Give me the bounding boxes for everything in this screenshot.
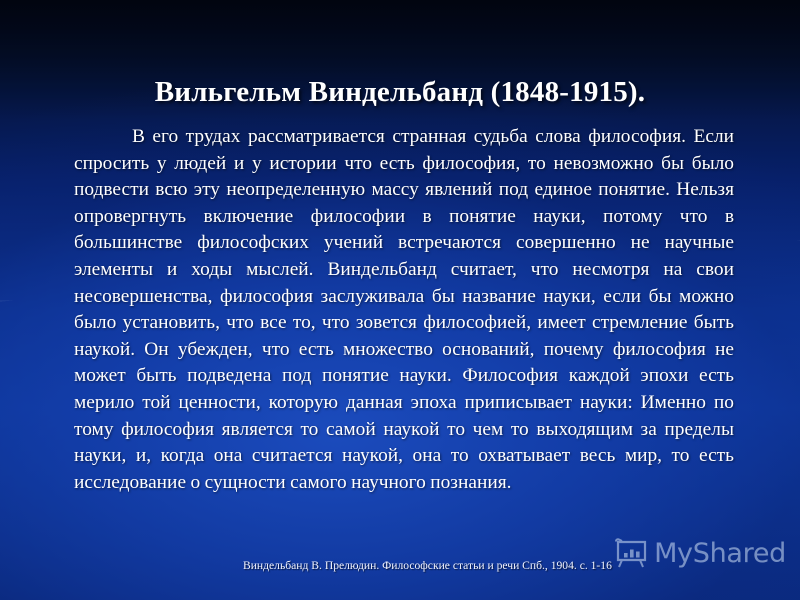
presentation-slide: Вильгельм Виндельбанд (1848-1915). В его…	[0, 0, 800, 600]
page-title: Вильгельм Виндельбанд (1848-1915).	[0, 76, 800, 109]
slide-content: Вильгельм Виндельбанд (1848-1915). В его…	[0, 0, 800, 600]
source-citation: Виндельбанд В. Прелюдин. Философские ста…	[243, 559, 763, 573]
slide-body-text: В его трудах рассматривается странная су…	[74, 124, 734, 496]
